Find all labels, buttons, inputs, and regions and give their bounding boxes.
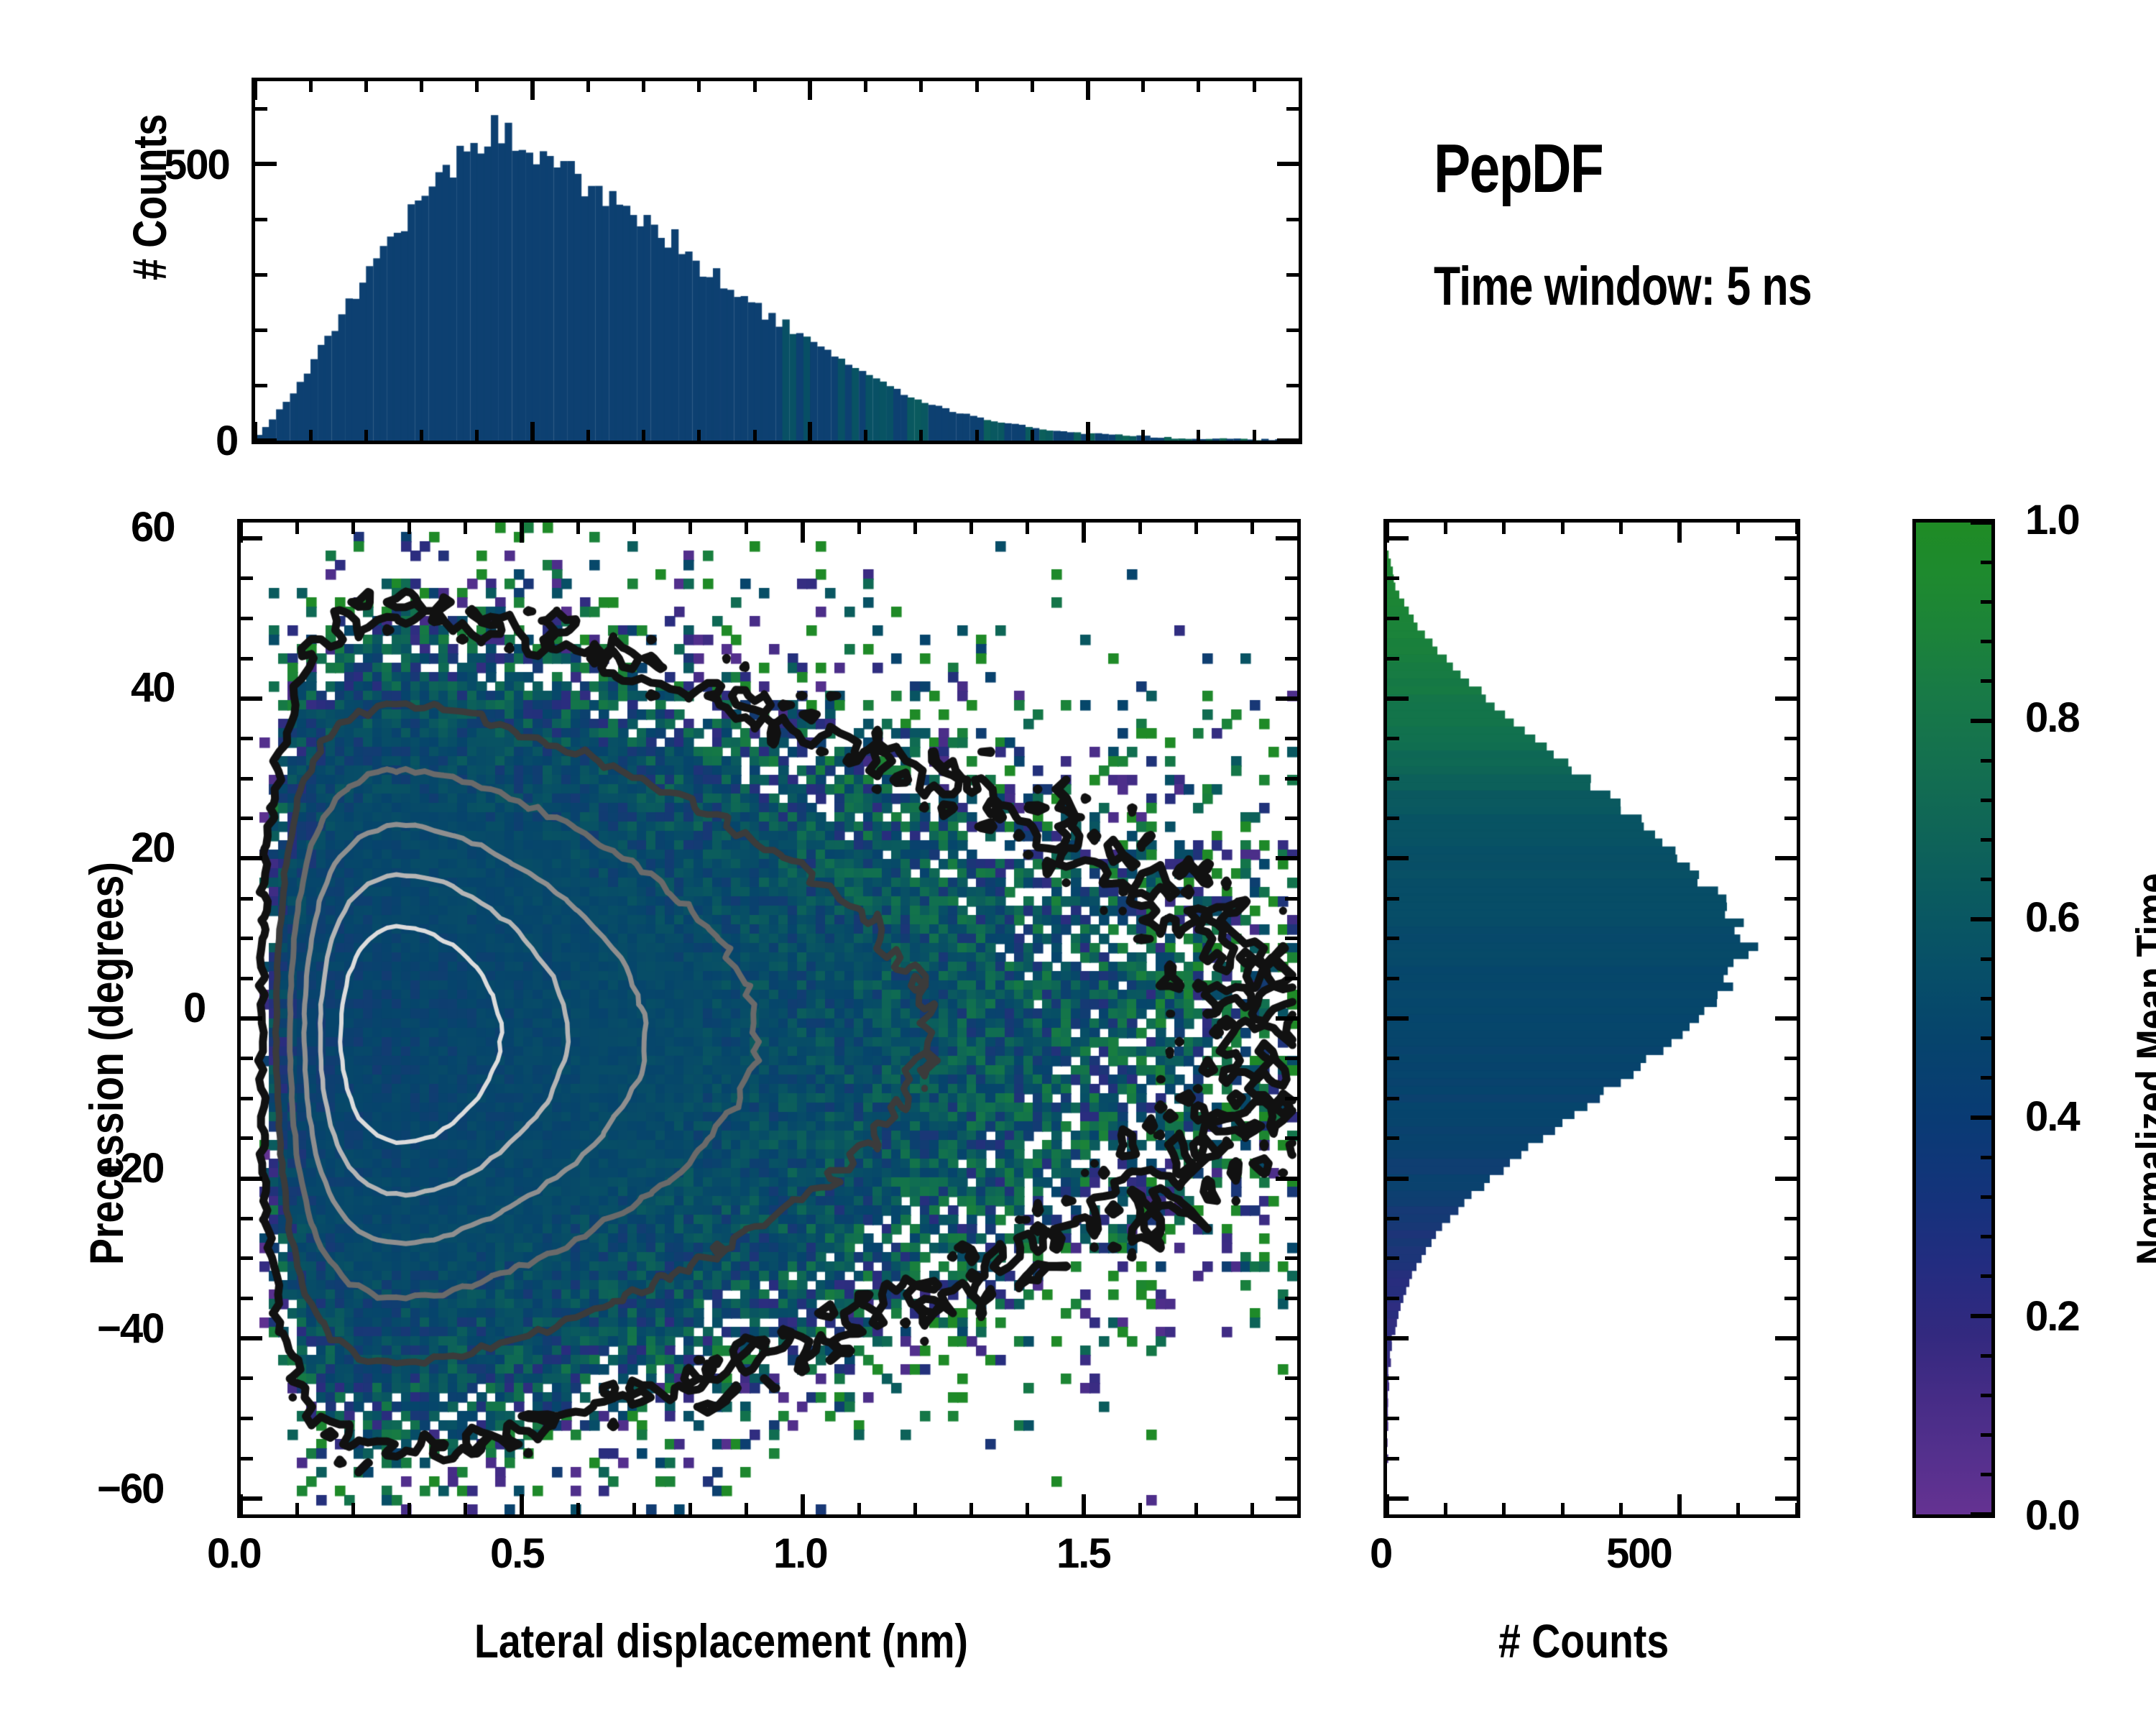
tick-mark bbox=[255, 273, 267, 277]
tick-mark bbox=[1444, 523, 1447, 534]
tick-mark bbox=[1138, 1503, 1142, 1514]
right-hist-xlabel: # Counts bbox=[1498, 1614, 1669, 1668]
top-histogram-canvas bbox=[255, 81, 1299, 441]
tick-mark bbox=[1253, 81, 1256, 92]
tick-mark bbox=[1981, 1354, 1995, 1358]
tick-mark bbox=[241, 1057, 253, 1060]
tick-mark bbox=[475, 430, 479, 441]
tick-mark bbox=[969, 1503, 973, 1514]
tick-mark bbox=[1086, 422, 1090, 441]
tick-mark bbox=[632, 1503, 636, 1514]
tick-mark bbox=[255, 438, 277, 443]
tick-mark bbox=[1981, 957, 1995, 961]
tick-mark bbox=[1784, 1136, 1797, 1140]
tick-mark bbox=[969, 523, 973, 534]
tick-mark bbox=[241, 1297, 253, 1300]
tick-mark bbox=[1784, 576, 1797, 580]
main-xtick-0: 0.0 bbox=[207, 1529, 261, 1578]
tick-mark bbox=[1784, 816, 1797, 820]
tick-mark bbox=[1795, 1503, 1799, 1514]
tick-mark bbox=[1981, 561, 1995, 564]
tick-mark bbox=[864, 81, 867, 92]
tick-mark bbox=[697, 430, 701, 441]
tick-mark bbox=[688, 523, 692, 534]
tick-mark bbox=[1561, 1503, 1565, 1514]
tick-mark bbox=[1387, 536, 1409, 540]
tick-mark bbox=[1276, 856, 1297, 860]
tick-mark bbox=[1285, 1136, 1297, 1140]
tick-mark bbox=[1031, 81, 1034, 92]
tick-mark bbox=[1784, 1457, 1797, 1460]
tick-mark bbox=[1784, 737, 1797, 740]
tick-mark bbox=[241, 977, 253, 980]
tick-mark bbox=[1981, 1433, 1995, 1437]
tick-mark bbox=[1784, 1057, 1797, 1060]
tick-mark bbox=[295, 1503, 299, 1514]
tick-mark bbox=[1285, 1217, 1297, 1220]
tick-mark bbox=[364, 81, 368, 92]
tick-mark bbox=[1971, 917, 1995, 921]
tick-mark bbox=[241, 536, 262, 540]
tick-mark bbox=[1981, 1195, 1995, 1199]
tick-mark bbox=[1285, 1297, 1297, 1300]
tick-mark bbox=[241, 1496, 262, 1501]
tick-mark bbox=[255, 328, 267, 332]
tick-mark bbox=[475, 81, 479, 92]
colorbar-tick-0-2: 0.2 bbox=[2025, 1292, 2079, 1340]
tick-mark bbox=[1387, 1097, 1399, 1100]
tick-mark bbox=[1387, 856, 1409, 860]
tick-mark bbox=[253, 81, 257, 100]
tick-mark bbox=[241, 1336, 262, 1340]
tick-mark bbox=[241, 576, 253, 580]
tick-mark bbox=[241, 696, 262, 701]
tick-mark bbox=[1285, 657, 1297, 661]
tick-mark bbox=[1387, 1136, 1399, 1140]
tick-mark bbox=[520, 1494, 524, 1514]
tick-mark bbox=[1387, 1297, 1399, 1300]
tick-mark bbox=[1784, 1217, 1797, 1220]
tick-mark bbox=[1775, 696, 1797, 701]
tick-mark bbox=[1502, 523, 1506, 534]
right-marginal-histogram bbox=[1383, 519, 1800, 1518]
tick-mark bbox=[975, 430, 979, 441]
tick-mark bbox=[351, 1503, 355, 1514]
tick-mark bbox=[919, 81, 923, 92]
main-ytick-60: 60 bbox=[131, 503, 175, 551]
tick-mark bbox=[1285, 1256, 1297, 1260]
tick-mark bbox=[1784, 937, 1797, 940]
tick-mark bbox=[1276, 1496, 1297, 1501]
tick-mark bbox=[1784, 657, 1797, 661]
tick-mark bbox=[576, 1503, 580, 1514]
tick-mark bbox=[808, 422, 812, 441]
tick-mark bbox=[1971, 1314, 1995, 1318]
colorbar-tick-0-8: 0.8 bbox=[2025, 694, 2079, 742]
tick-mark bbox=[1775, 1336, 1797, 1340]
tick-mark bbox=[420, 81, 423, 92]
tick-mark bbox=[351, 523, 355, 534]
tick-mark bbox=[364, 430, 368, 441]
tick-mark bbox=[1141, 430, 1145, 441]
main-xtick-15: 1.5 bbox=[1056, 1529, 1110, 1578]
tick-mark bbox=[1981, 997, 1995, 1000]
tick-mark bbox=[1784, 1097, 1797, 1100]
tick-mark bbox=[309, 81, 313, 92]
tick-mark bbox=[241, 1016, 262, 1021]
tick-mark bbox=[1286, 384, 1299, 387]
tick-mark bbox=[801, 523, 805, 543]
tick-mark bbox=[1387, 897, 1399, 901]
tick-mark bbox=[1561, 523, 1565, 534]
tick-mark bbox=[801, 1494, 805, 1514]
tick-mark bbox=[241, 1457, 253, 1460]
tick-mark bbox=[255, 162, 277, 166]
tick-mark bbox=[1784, 617, 1797, 620]
tick-mark bbox=[1387, 696, 1409, 701]
main-xtick-05: 0.5 bbox=[490, 1529, 544, 1578]
tick-mark bbox=[520, 523, 524, 543]
tick-mark bbox=[530, 422, 535, 441]
top-hist-ytick-0: 0 bbox=[216, 417, 237, 465]
tick-mark bbox=[1387, 1457, 1399, 1460]
tick-mark bbox=[1026, 523, 1029, 534]
colorbar-label: Normalized Mean Time bbox=[2127, 873, 2156, 1265]
tick-mark bbox=[1775, 1496, 1797, 1501]
tick-mark bbox=[1981, 1473, 1995, 1476]
tick-mark bbox=[1286, 107, 1299, 111]
tick-mark bbox=[1285, 1376, 1297, 1380]
tick-mark bbox=[241, 816, 253, 820]
tick-mark bbox=[1981, 1036, 1995, 1040]
tick-mark bbox=[1971, 1115, 1995, 1120]
tick-mark bbox=[241, 1217, 253, 1220]
main-2d-histogram bbox=[237, 519, 1301, 1518]
tick-mark bbox=[1444, 1503, 1447, 1514]
tick-mark bbox=[241, 1256, 253, 1260]
tick-mark bbox=[241, 737, 253, 740]
tick-mark bbox=[1387, 977, 1399, 980]
main-ytick-m40: −40 bbox=[97, 1305, 163, 1353]
tick-mark bbox=[1775, 536, 1797, 540]
tick-mark bbox=[1387, 1496, 1409, 1501]
tick-mark bbox=[1677, 523, 1682, 543]
tick-mark bbox=[808, 81, 812, 100]
tick-mark bbox=[642, 430, 645, 441]
tick-mark bbox=[1277, 438, 1299, 443]
tick-mark bbox=[642, 81, 645, 92]
tick-mark bbox=[1285, 1057, 1297, 1060]
tick-mark bbox=[241, 1136, 253, 1140]
tick-mark bbox=[241, 1417, 253, 1420]
tick-mark bbox=[241, 617, 253, 620]
tick-mark bbox=[1784, 1376, 1797, 1380]
tick-mark bbox=[241, 1177, 262, 1181]
tick-mark bbox=[913, 523, 917, 534]
tick-mark bbox=[1971, 719, 1995, 723]
tick-mark bbox=[255, 384, 267, 387]
tick-mark bbox=[241, 937, 253, 940]
colorbar-tick-0-0: 0.0 bbox=[2025, 1491, 2079, 1540]
tick-mark bbox=[857, 1503, 861, 1514]
colorbar bbox=[1912, 519, 1995, 1518]
tick-mark bbox=[1285, 816, 1297, 820]
tick-mark bbox=[586, 430, 590, 441]
tick-mark bbox=[255, 107, 267, 111]
tick-mark bbox=[1031, 430, 1034, 441]
tick-mark bbox=[1387, 1177, 1409, 1181]
tick-mark bbox=[1276, 696, 1297, 701]
tick-mark bbox=[241, 856, 262, 860]
tick-mark bbox=[407, 523, 411, 534]
tick-mark bbox=[1285, 737, 1297, 740]
tick-mark bbox=[241, 1097, 253, 1100]
tick-mark bbox=[1677, 1494, 1682, 1514]
tick-mark bbox=[1387, 657, 1399, 661]
tick-mark bbox=[1250, 523, 1254, 534]
tick-mark bbox=[1387, 617, 1399, 620]
tick-mark bbox=[309, 430, 313, 441]
tick-mark bbox=[241, 1376, 253, 1380]
tick-mark bbox=[1619, 523, 1623, 534]
tick-mark bbox=[1775, 1177, 1797, 1181]
tick-mark bbox=[1387, 1336, 1409, 1340]
tick-mark bbox=[1286, 218, 1299, 221]
tick-mark bbox=[1250, 1503, 1254, 1514]
tick-mark bbox=[1194, 1503, 1198, 1514]
main-heatmap-canvas bbox=[241, 523, 1297, 1514]
colorbar-tick-0-4: 0.4 bbox=[2025, 1092, 2079, 1141]
tick-mark bbox=[1981, 799, 1995, 802]
main-ytick-0: 0 bbox=[183, 984, 205, 1032]
tick-mark bbox=[1981, 878, 1995, 881]
tick-mark bbox=[1194, 523, 1198, 534]
tick-mark bbox=[1387, 816, 1399, 820]
tick-mark bbox=[1276, 536, 1297, 540]
colorbar-tick-1-0: 1.0 bbox=[2025, 496, 2079, 544]
tick-mark bbox=[295, 523, 299, 534]
tick-mark bbox=[253, 422, 257, 441]
right-histogram-canvas bbox=[1387, 523, 1797, 1514]
tick-mark bbox=[745, 1503, 748, 1514]
tick-mark bbox=[1784, 1297, 1797, 1300]
tick-mark bbox=[919, 430, 923, 441]
tick-mark bbox=[255, 218, 267, 221]
tick-mark bbox=[1276, 1336, 1297, 1340]
tick-mark bbox=[586, 81, 590, 92]
tick-mark bbox=[1784, 977, 1797, 980]
tick-mark bbox=[1197, 430, 1200, 441]
tick-mark bbox=[1736, 523, 1740, 534]
tick-mark bbox=[1253, 430, 1256, 441]
tick-mark bbox=[632, 523, 636, 534]
main-ytick-20: 20 bbox=[131, 824, 175, 872]
tick-mark bbox=[1285, 1417, 1297, 1420]
tick-mark bbox=[753, 81, 757, 92]
tick-mark bbox=[1981, 679, 1995, 683]
tick-mark bbox=[753, 430, 757, 441]
tick-mark bbox=[1387, 1016, 1409, 1021]
tick-mark bbox=[688, 1503, 692, 1514]
tick-mark bbox=[1285, 1457, 1297, 1460]
tick-mark bbox=[1276, 1016, 1297, 1021]
tick-mark bbox=[975, 81, 979, 92]
tick-mark bbox=[464, 1503, 467, 1514]
tick-mark bbox=[913, 1503, 917, 1514]
tick-mark bbox=[1276, 1177, 1297, 1181]
tick-mark bbox=[697, 81, 701, 92]
tick-mark bbox=[241, 777, 253, 781]
tick-mark bbox=[1981, 1076, 1995, 1080]
tick-mark bbox=[1285, 977, 1297, 980]
tick-mark bbox=[1277, 162, 1299, 166]
tick-mark bbox=[1775, 1016, 1797, 1021]
tick-mark bbox=[1387, 1217, 1399, 1220]
tick-mark bbox=[1981, 600, 1995, 604]
tick-mark bbox=[1981, 1274, 1995, 1278]
tick-mark bbox=[530, 81, 535, 100]
tick-mark bbox=[1387, 1417, 1399, 1420]
main-xtick-10: 1.0 bbox=[773, 1529, 827, 1578]
top-marginal-histogram bbox=[252, 78, 1302, 444]
top-hist-ylabel: # Counts bbox=[122, 114, 177, 280]
tick-mark bbox=[1981, 1394, 1995, 1397]
tick-mark bbox=[1387, 737, 1399, 740]
tick-mark bbox=[1971, 520, 1995, 525]
right-hist-xtick-0: 0 bbox=[1370, 1529, 1391, 1578]
tick-mark bbox=[864, 430, 867, 441]
tick-mark bbox=[1387, 937, 1399, 940]
tick-mark bbox=[1082, 523, 1086, 543]
tick-mark bbox=[1387, 1256, 1399, 1260]
tick-mark bbox=[1775, 856, 1797, 860]
tick-mark bbox=[1387, 1376, 1399, 1380]
page-title: PepDF bbox=[1434, 129, 1603, 208]
tick-mark bbox=[1138, 523, 1142, 534]
tick-mark bbox=[1285, 576, 1297, 580]
tick-mark bbox=[1285, 617, 1297, 620]
tick-mark bbox=[1619, 1503, 1623, 1514]
tick-mark bbox=[464, 523, 467, 534]
main-ytick-40: 40 bbox=[131, 663, 175, 712]
tick-mark bbox=[1082, 1494, 1086, 1514]
tick-mark bbox=[241, 657, 253, 661]
right-hist-xtick-500: 500 bbox=[1606, 1529, 1672, 1578]
tick-mark bbox=[1981, 1235, 1995, 1238]
tick-mark bbox=[1286, 273, 1299, 277]
tick-mark bbox=[1981, 640, 1995, 643]
tick-mark bbox=[1285, 1097, 1297, 1100]
tick-mark bbox=[1286, 328, 1299, 332]
tick-mark bbox=[1971, 1512, 1995, 1517]
tick-mark bbox=[407, 1503, 411, 1514]
tick-mark bbox=[1197, 81, 1200, 92]
colorbar-tick-0-6: 0.6 bbox=[2025, 893, 2079, 942]
tick-mark bbox=[1981, 759, 1995, 763]
tick-mark bbox=[1502, 1503, 1506, 1514]
tick-mark bbox=[1981, 838, 1995, 842]
tick-mark bbox=[1784, 897, 1797, 901]
tick-mark bbox=[241, 897, 253, 901]
tick-mark bbox=[1387, 777, 1399, 781]
tick-mark bbox=[857, 523, 861, 534]
tick-mark bbox=[1086, 81, 1090, 100]
tick-mark bbox=[1387, 1057, 1399, 1060]
main-xlabel: Lateral displacement (nm) bbox=[474, 1614, 968, 1668]
tick-mark bbox=[1784, 1417, 1797, 1420]
tick-mark bbox=[1736, 1503, 1740, 1514]
tick-mark bbox=[1784, 777, 1797, 781]
tick-mark bbox=[745, 523, 748, 534]
tick-mark bbox=[1141, 81, 1145, 92]
tick-mark bbox=[1981, 1156, 1995, 1159]
tick-mark bbox=[1285, 897, 1297, 901]
time-window-subtitle: Time window: 5 ns bbox=[1434, 255, 1812, 318]
tick-mark bbox=[576, 523, 580, 534]
tick-mark bbox=[420, 430, 423, 441]
tick-mark bbox=[1026, 1503, 1029, 1514]
main-ylabel: Precession (degrees) bbox=[79, 862, 134, 1265]
tick-mark bbox=[1285, 777, 1297, 781]
tick-mark bbox=[1285, 937, 1297, 940]
tick-mark bbox=[1784, 1256, 1797, 1260]
main-ytick-m60: −60 bbox=[97, 1465, 163, 1513]
tick-mark bbox=[1795, 523, 1799, 534]
tick-mark bbox=[1387, 576, 1399, 580]
